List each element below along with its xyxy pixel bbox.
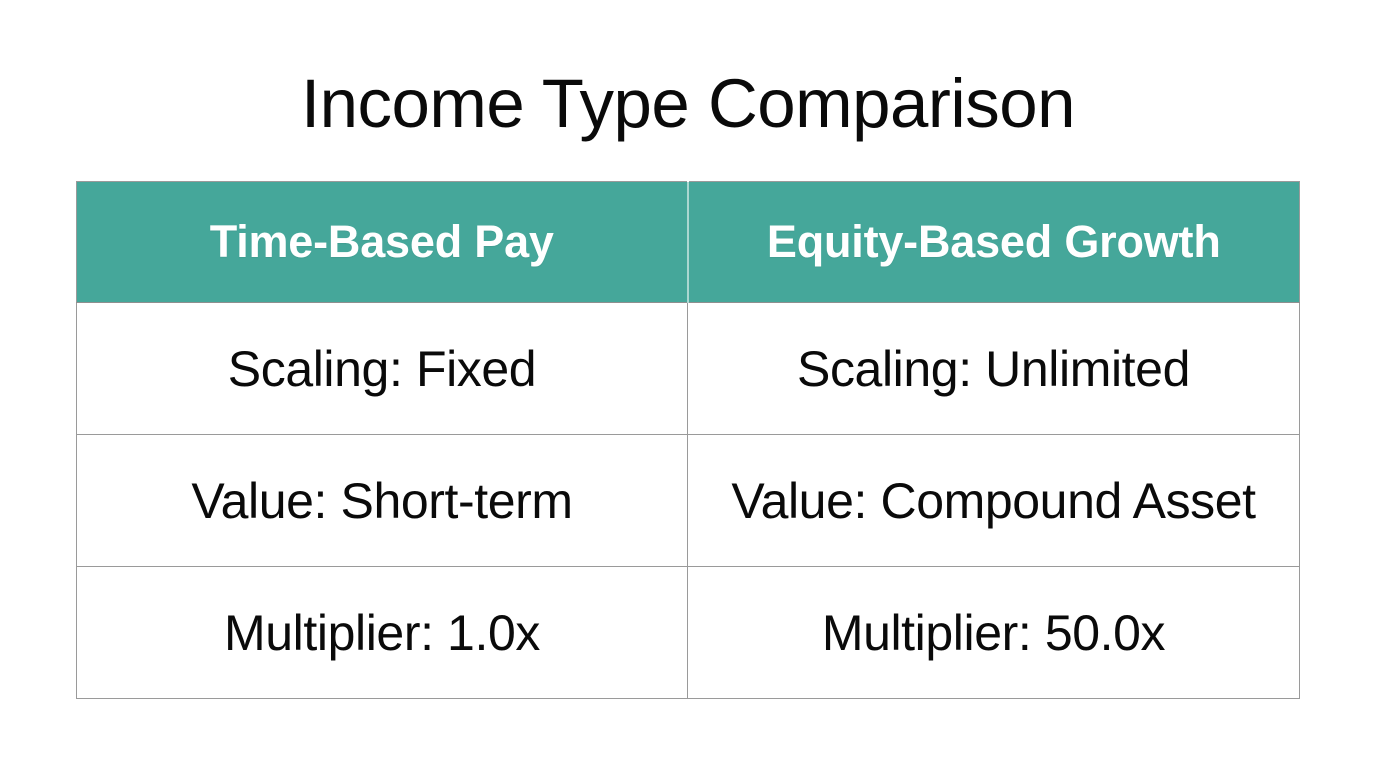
table-body: Scaling: Fixed Scaling: Unlimited Value:… <box>77 303 1300 699</box>
table-row-scaling: Scaling: Fixed Scaling: Unlimited <box>77 303 1300 435</box>
table-header-row: Time-Based Pay Equity-Based Growth <box>77 182 1300 303</box>
cell-scaling-time-based-pay: Scaling: Fixed <box>77 303 688 435</box>
cell-multiplier-equity-based-growth: Multiplier: 50.0x <box>688 567 1300 699</box>
cell-multiplier-time-based-pay: Multiplier: 1.0x <box>77 567 688 699</box>
page-title: Income Type Comparison <box>0 62 1376 146</box>
income-type-comparison-table: Time-Based Pay Equity-Based Growth Scali… <box>76 181 1300 699</box>
cell-scaling-equity-based-growth: Scaling: Unlimited <box>688 303 1300 435</box>
cell-value-equity-based-growth: Value: Compound Asset <box>688 435 1300 567</box>
cell-value-time-based-pay: Value: Short-term <box>77 435 688 567</box>
table-row-value: Value: Short-term Value: Compound Asset <box>77 435 1300 567</box>
column-header-equity-based-growth: Equity-Based Growth <box>688 182 1300 303</box>
table-header: Time-Based Pay Equity-Based Growth <box>77 182 1300 303</box>
column-header-time-based-pay: Time-Based Pay <box>77 182 688 303</box>
slide-canvas: Income Type Comparison Time-Based Pay Eq… <box>0 0 1376 768</box>
table-row-multiplier: Multiplier: 1.0x Multiplier: 50.0x <box>77 567 1300 699</box>
